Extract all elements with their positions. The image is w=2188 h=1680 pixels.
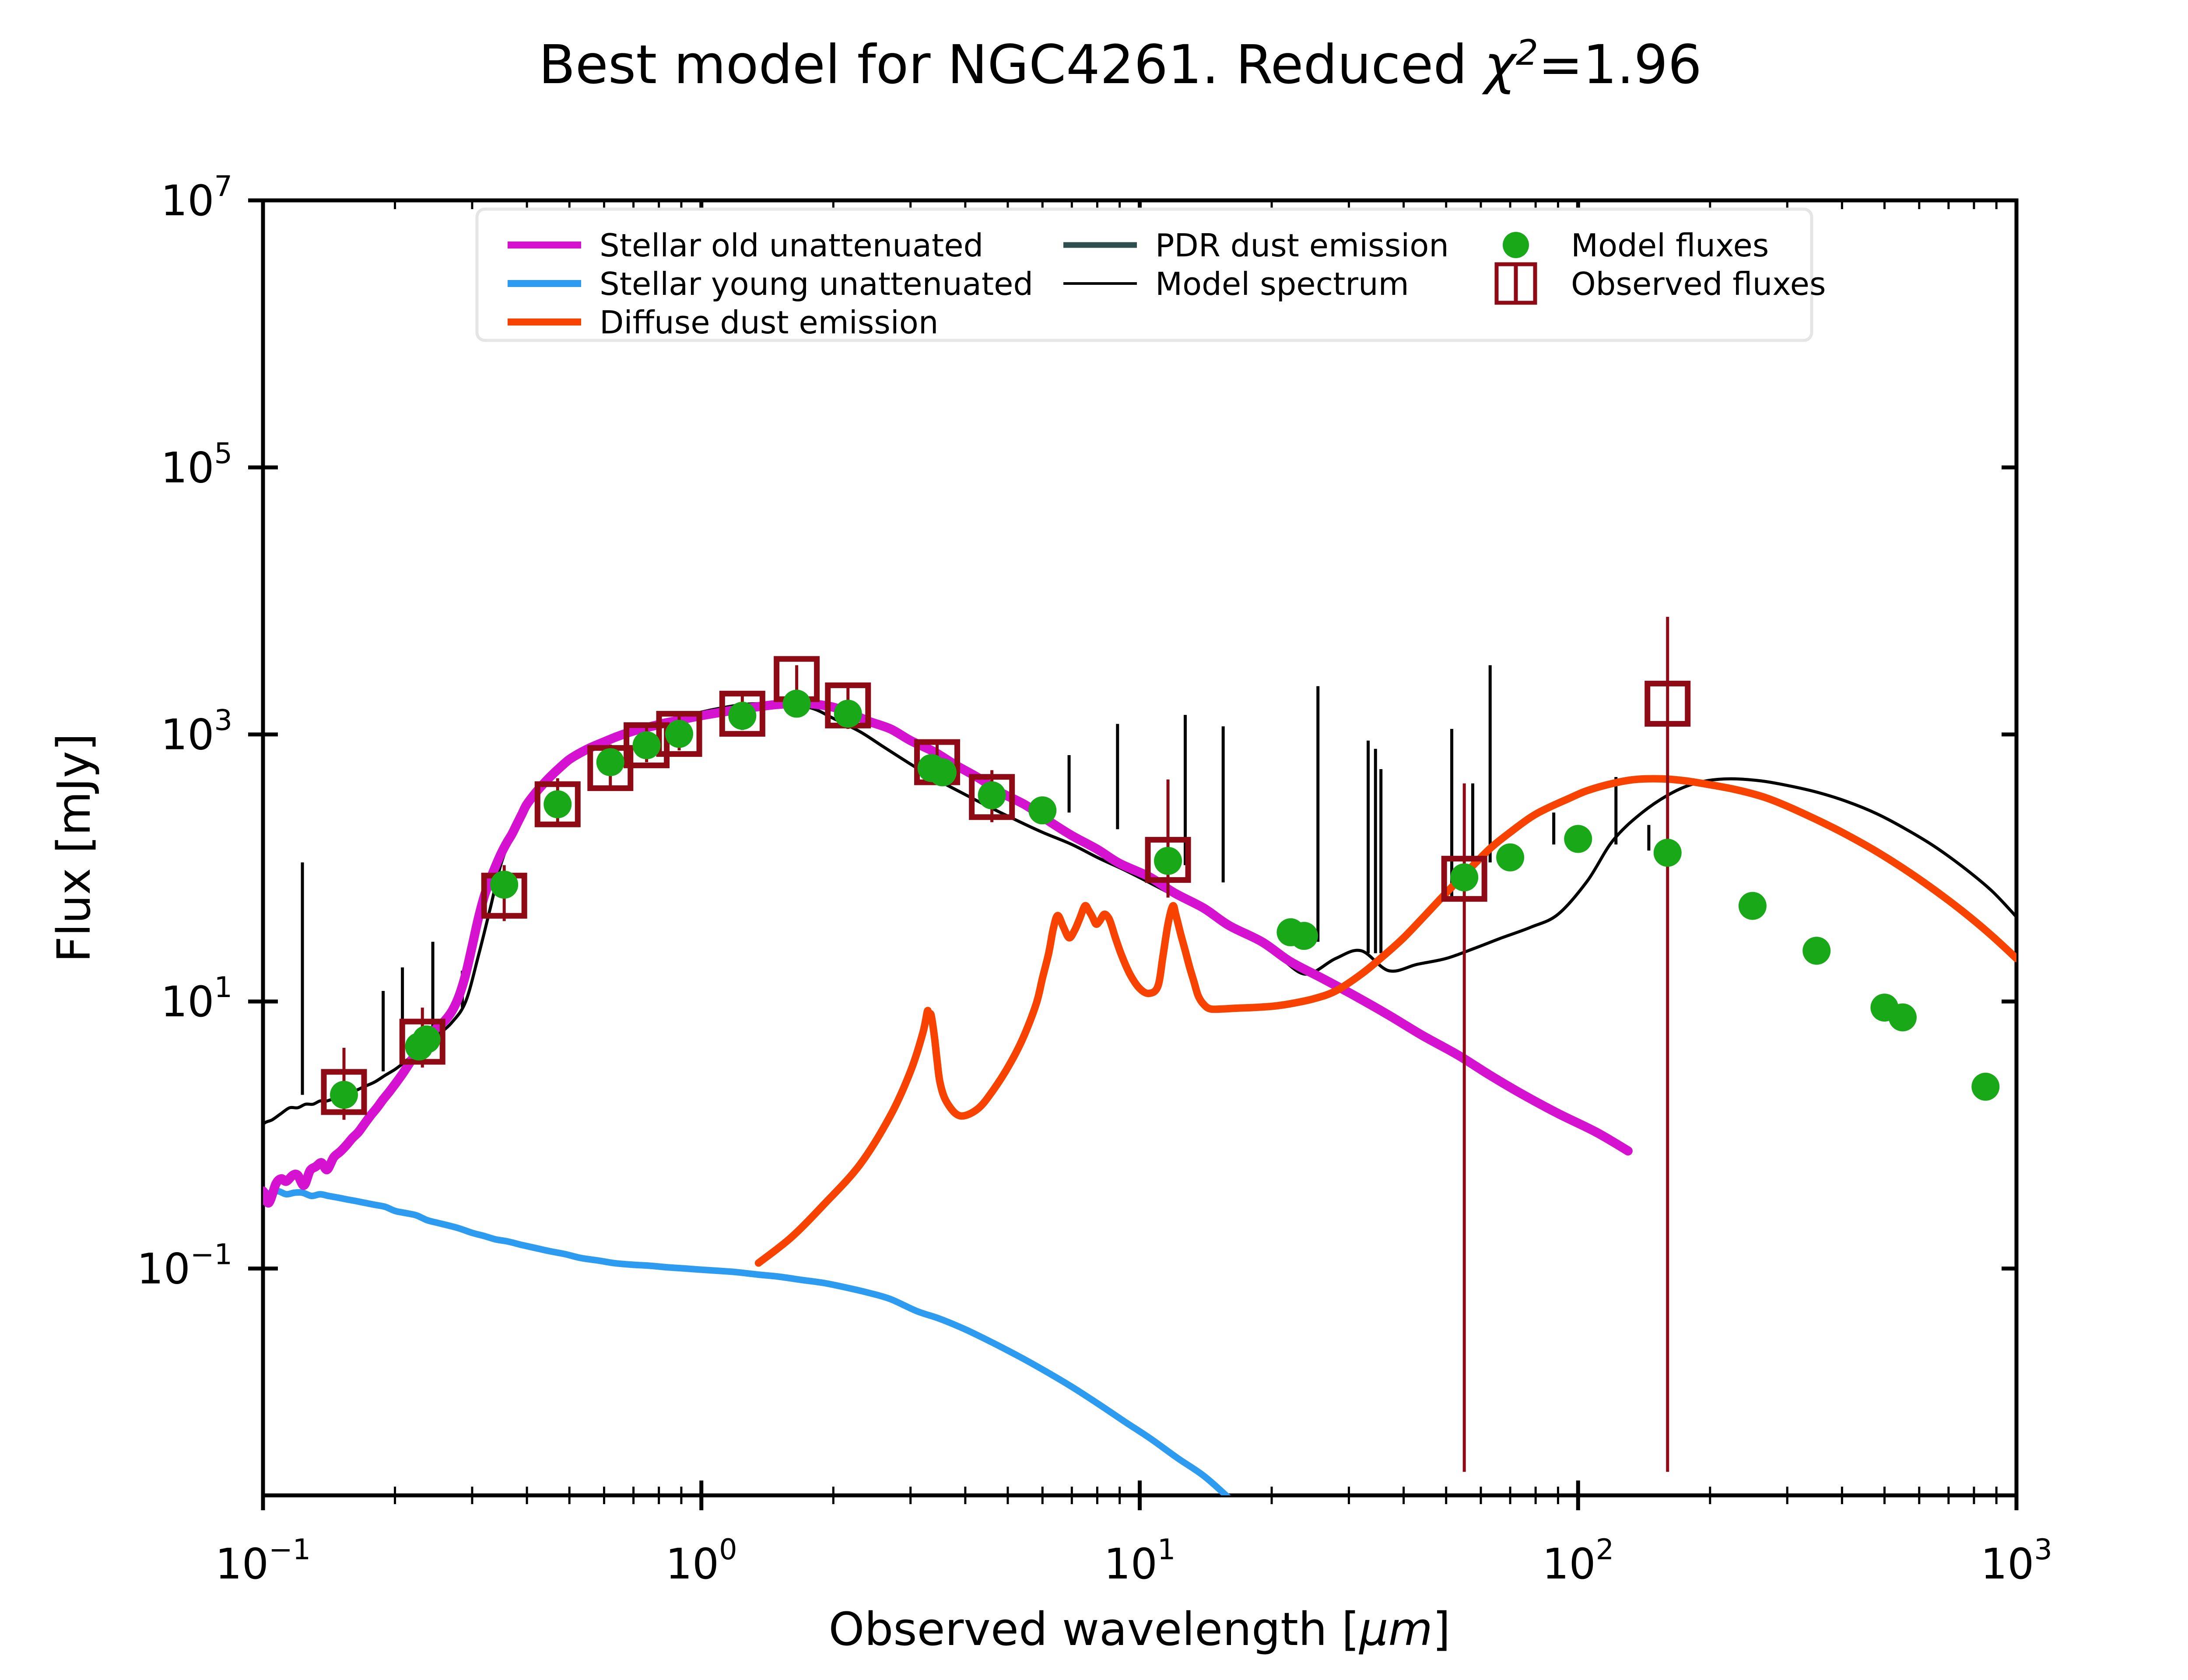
legend-label: Model fluxes — [1571, 227, 1769, 264]
model-flux-marker — [783, 689, 811, 717]
model-flux-marker — [665, 720, 693, 748]
model-flux-marker — [1739, 892, 1767, 920]
model-flux-marker — [543, 790, 572, 818]
model-flux-marker — [1154, 847, 1182, 875]
model-flux-marker — [1496, 843, 1524, 871]
legend-label: Diffuse dust emission — [600, 304, 939, 341]
model-flux-marker — [1290, 922, 1318, 950]
x-axis-label: Observed wavelength [μm] — [829, 1603, 1451, 1656]
legend-label: Stellar old unattenuated — [600, 227, 983, 264]
legend: Stellar old unattenuatedStellar young un… — [477, 209, 1826, 341]
model-flux-marker — [490, 871, 518, 899]
model-flux-marker — [728, 702, 756, 730]
model-flux-marker — [330, 1081, 358, 1109]
legend-label: Model spectrum — [1155, 266, 1409, 302]
y-axis-label: Flux [mJy] — [47, 733, 101, 962]
legend-label: Observed fluxes — [1571, 266, 1826, 302]
legend-swatch-dot — [1503, 232, 1529, 258]
model-flux-marker — [596, 748, 624, 776]
sed-plot: Best model for NGC4261. Reduced χ2=1.96 … — [0, 0, 2188, 1680]
model-flux-marker — [929, 758, 957, 786]
model-flux-marker — [978, 781, 1006, 809]
model-flux-marker — [1450, 863, 1478, 891]
model-flux-marker — [834, 700, 862, 728]
legend-label: Stellar young unattenuated — [600, 266, 1033, 302]
model-flux-marker — [1802, 937, 1830, 965]
model-flux-marker — [1889, 1003, 1917, 1031]
model-flux-marker — [413, 1025, 441, 1053]
model-flux-marker — [1654, 839, 1682, 867]
model-flux-marker — [1564, 825, 1592, 853]
model-flux-marker — [1971, 1073, 1999, 1101]
model-flux-marker — [633, 731, 661, 759]
legend-label: PDR dust emission — [1155, 227, 1449, 264]
model-flux-marker — [1028, 796, 1056, 824]
figure-root: Best model for NGC4261. Reduced χ2=1.96 … — [0, 0, 2188, 1680]
